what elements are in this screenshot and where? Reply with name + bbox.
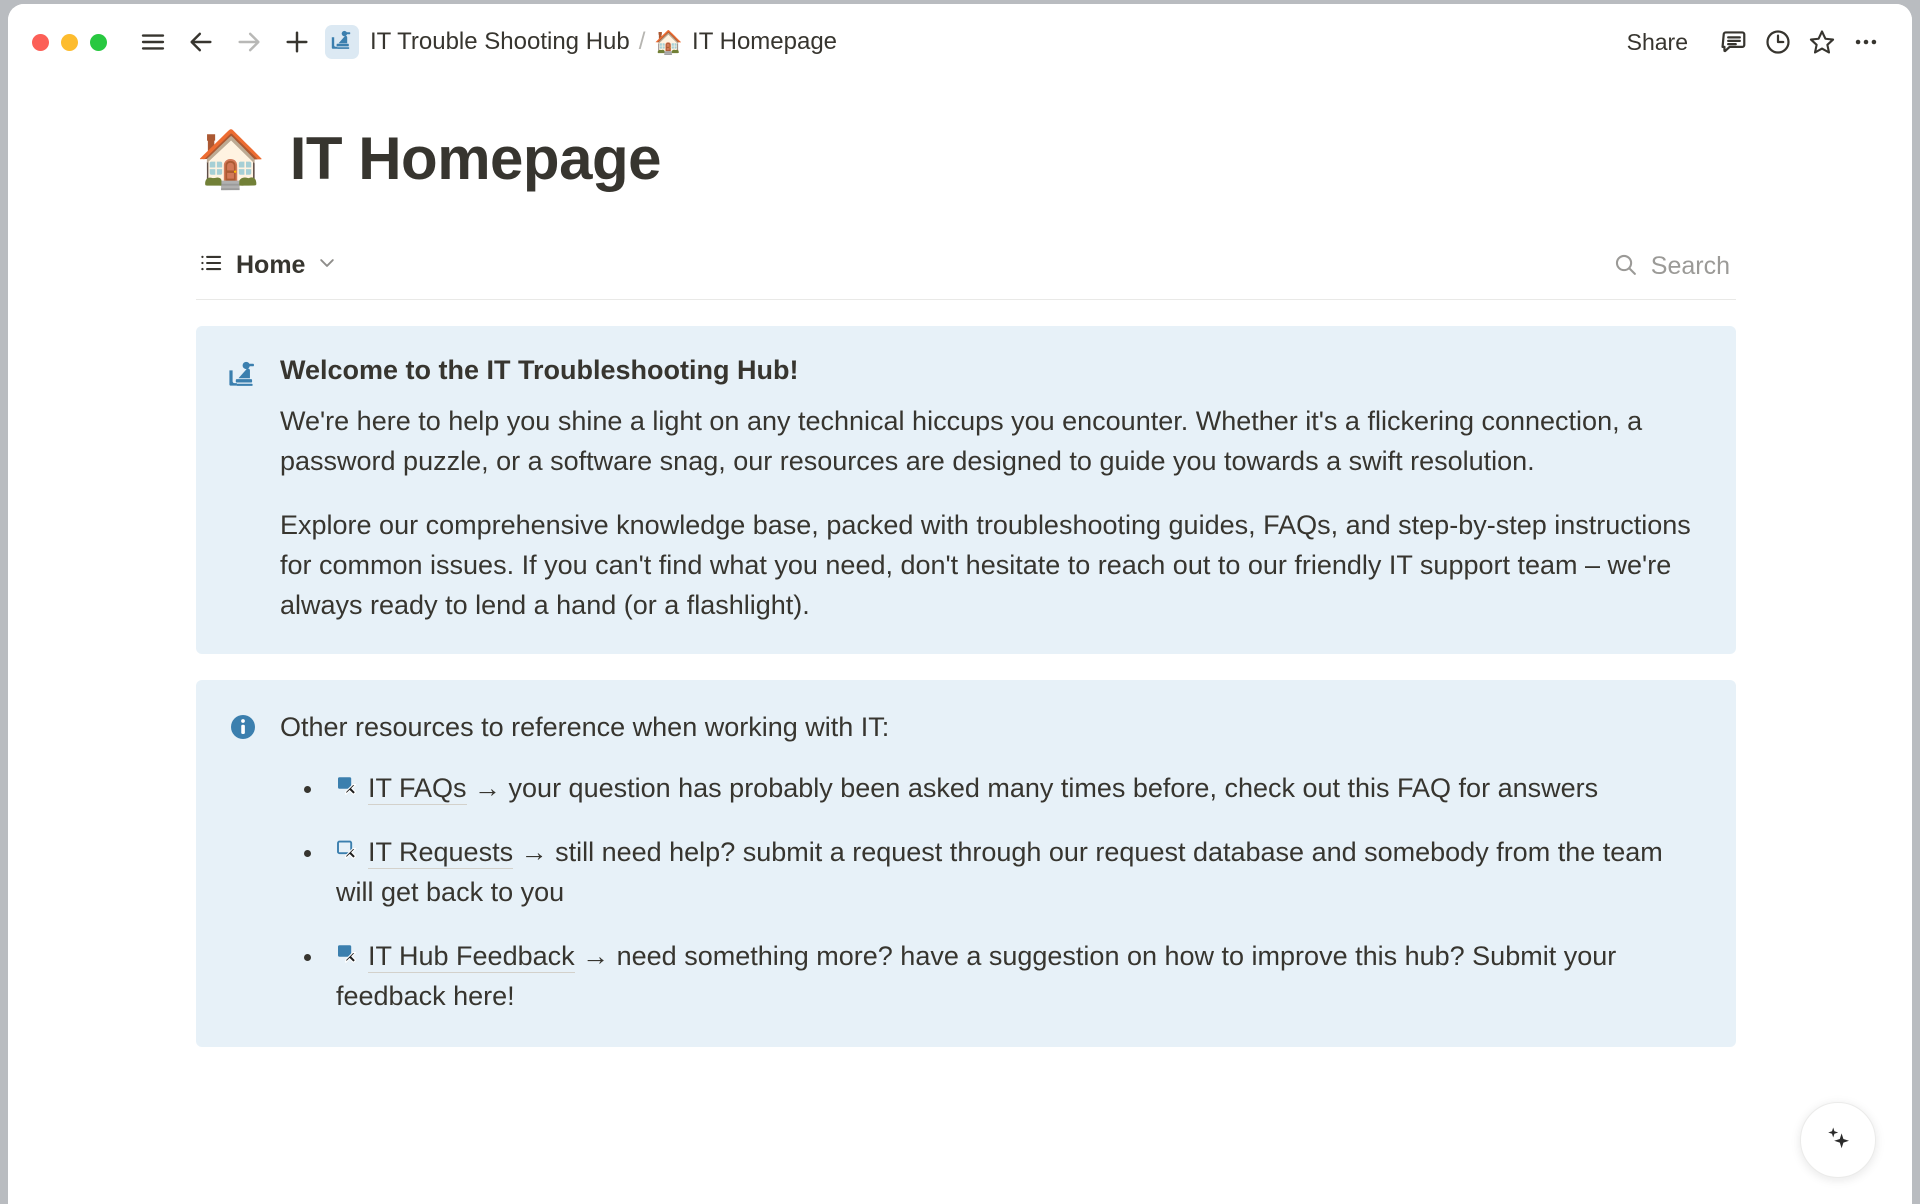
history-button[interactable] <box>1758 22 1798 62</box>
app-window: IT Trouble Shooting Hub / 🏠 IT Homepage … <box>8 4 1912 1204</box>
list-item: IT FAQs → your question has probably bee… <box>280 769 1706 809</box>
more-options-button[interactable] <box>1846 22 1886 62</box>
view-search-button[interactable]: Search <box>1613 252 1736 282</box>
person-at-desk-icon <box>227 358 259 626</box>
ai-assistant-button[interactable] <box>1800 1102 1876 1178</box>
welcome-paragraph-1: We're here to help you shine a light on … <box>280 402 1706 482</box>
page-title-row: 🏠 IT Homepage <box>196 80 1736 202</box>
search-label: Search <box>1651 252 1730 281</box>
arrow-left-icon <box>187 28 215 56</box>
callout-icon <box>226 706 260 1019</box>
forward-button[interactable] <box>229 22 269 62</box>
list-item-description: → your question has probably been asked … <box>467 773 1599 803</box>
ellipsis-icon <box>1852 28 1880 56</box>
breadcrumb-current[interactable]: IT Homepage <box>692 28 837 56</box>
view-tab-label: Home <box>236 251 305 280</box>
database-view-bar: Home Search <box>196 246 1736 300</box>
plus-icon <box>283 28 311 56</box>
page-link-outline-icon <box>336 837 362 863</box>
person-at-desk-icon <box>330 28 354 57</box>
titlebar-actions: Share <box>1615 22 1912 63</box>
clock-icon <box>1764 28 1792 56</box>
hamburger-menu-icon <box>139 28 167 56</box>
close-window-button[interactable] <box>32 34 49 51</box>
resources-list: IT FAQs → your question has probably bee… <box>280 769 1706 1017</box>
title-bar: IT Trouble Shooting Hub / 🏠 IT Homepage … <box>8 4 1912 80</box>
chevron-down-icon <box>317 253 337 278</box>
sidebar-toggle-button[interactable] <box>133 22 173 62</box>
workspace-tab-icon-container[interactable] <box>325 25 359 59</box>
resources-callout: Other resources to reference when workin… <box>196 680 1736 1047</box>
maximize-window-button[interactable] <box>90 34 107 51</box>
welcome-heading: Welcome to the IT Troubleshooting Hub! <box>280 352 1706 388</box>
list-item: IT Requests → still need help? submit a … <box>280 833 1706 913</box>
welcome-paragraph-2: Explore our comprehensive knowledge base… <box>280 506 1706 626</box>
callout-icon <box>226 352 260 626</box>
minimize-window-button[interactable] <box>61 34 78 51</box>
list-item-description: → still need help? submit a request thro… <box>336 837 1663 907</box>
sparkles-icon <box>1820 1120 1856 1161</box>
navigation-controls <box>133 22 317 62</box>
page-link-filled-icon <box>336 941 362 967</box>
link-it-hub-feedback[interactable]: IT Hub Feedback <box>368 941 575 973</box>
page-link-filled-icon <box>336 773 362 799</box>
breadcrumb-separator: / <box>639 28 646 56</box>
house-icon: 🏠 <box>196 131 266 187</box>
link-it-requests[interactable]: IT Requests <box>368 837 513 869</box>
info-icon <box>228 712 258 1019</box>
house-icon: 🏠 <box>654 29 683 56</box>
comments-button[interactable] <box>1714 22 1754 62</box>
welcome-callout: Welcome to the IT Troubleshooting Hub! W… <box>196 326 1736 654</box>
breadcrumb: IT Trouble Shooting Hub / 🏠 IT Homepage <box>370 28 837 56</box>
breadcrumb-parent[interactable]: IT Trouble Shooting Hub <box>370 28 630 56</box>
favorite-button[interactable] <box>1802 22 1842 62</box>
resources-lead: Other resources to reference when workin… <box>280 706 1706 747</box>
page-title: IT Homepage <box>290 126 661 192</box>
traffic-lights <box>32 34 107 51</box>
list-view-icon <box>198 250 224 281</box>
link-it-faqs[interactable]: IT FAQs <box>368 773 467 805</box>
back-button[interactable] <box>181 22 221 62</box>
share-button[interactable]: Share <box>1615 22 1700 63</box>
list-item: IT Hub Feedback → need something more? h… <box>280 937 1706 1017</box>
search-icon <box>1613 252 1638 282</box>
new-tab-button[interactable] <box>277 22 317 62</box>
view-tab-home[interactable]: Home <box>196 246 343 287</box>
comment-icon <box>1720 28 1748 56</box>
arrow-right-icon <box>235 28 263 56</box>
page-content: 🏠 IT Homepage <box>8 80 1912 1047</box>
star-icon <box>1808 28 1836 56</box>
